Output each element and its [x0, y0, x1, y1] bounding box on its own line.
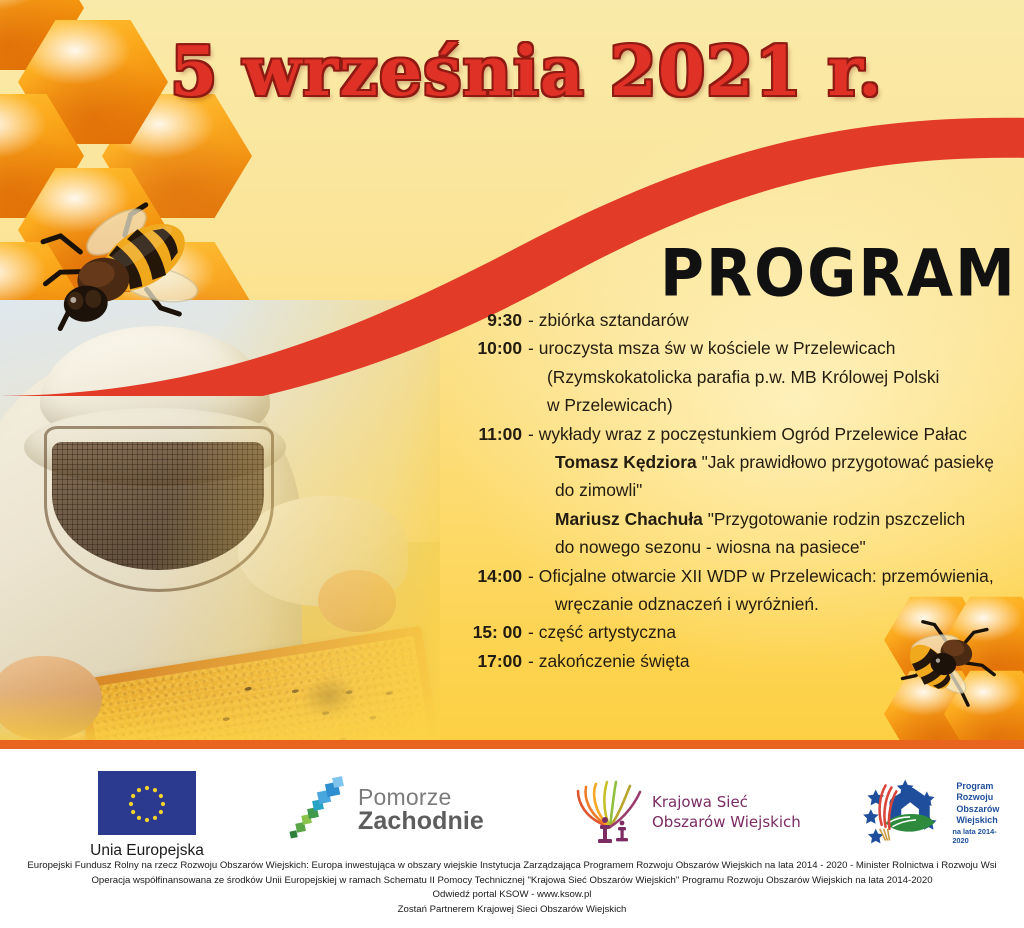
funding-line: Europejski Fundusz Rolny na rzecz Rozwoj… — [0, 859, 1024, 874]
logo-ksow: Krajowa Sieć Obszarów Wiejskich — [574, 775, 804, 849]
schedule-text: do zimowli" — [533, 482, 1008, 499]
poster-artwork-area: 5 września 2021 r. PROGRAM 9:30-zbiórka … — [0, 0, 1024, 748]
logo-label-prow-4: Wiejskich — [956, 815, 1012, 826]
logo-label-prow-2: Rozwoju — [956, 792, 1012, 803]
logo-prow: Program Rozwoju Obszarów Wiejskich na la… — [862, 777, 1012, 849]
schedule-row: 11:00- wykłady wraz z poczęstunkiem Ogró… — [448, 426, 1008, 443]
schedule-time: 11:00 — [448, 426, 522, 443]
logo-strip: Unia Europejska — [0, 757, 1024, 861]
logo-label-prow-1: Program — [956, 781, 1012, 792]
schedule-time: 17:00 — [448, 653, 522, 670]
logo-label-eu: Unia Europejska — [52, 842, 242, 860]
schedule-dash: - — [522, 624, 539, 641]
program-heading: PROGRAM — [660, 236, 1017, 312]
schedule-time: 9:30 — [448, 312, 522, 329]
schedule-row: do zimowli" — [448, 482, 1008, 499]
talk-title: "Przygotowanie rodzin pszczelich — [703, 509, 965, 529]
orange-divider — [0, 740, 1024, 749]
schedule-row: do nowego sezonu - wiosna na pasiece" — [448, 539, 1008, 556]
funding-disclaimer: Europejski Fundusz Rolny na rzecz Rozwoj… — [0, 859, 1024, 917]
schedule-time: 14:00 — [448, 568, 522, 585]
schedule-row: 14:00- Oficjalne otwarcie XII WDP w Prze… — [448, 568, 1008, 585]
ksow-fountain-icon — [574, 775, 646, 849]
prow-house-icon — [862, 777, 952, 849]
poster-root: 5 września 2021 r. PROGRAM 9:30-zbiórka … — [0, 0, 1024, 928]
schedule-row: (Rzymskokatolicka parafia p.w. MB Królow… — [448, 369, 1008, 386]
schedule-time: 10:00 — [448, 340, 522, 357]
schedule-dash: - — [522, 312, 539, 329]
logo-label-prow-3: Obszarów — [956, 804, 1012, 815]
schedule-text: Mariusz Chachuła "Przygotowanie rodzin p… — [533, 511, 1008, 528]
schedule-dash: - — [522, 568, 539, 585]
speaker-name: Tomasz Kędziora — [555, 452, 697, 472]
schedule-row: w Przelewicach) — [448, 397, 1008, 414]
schedule-text: (Rzymskokatolicka parafia p.w. MB Królow… — [533, 369, 1008, 386]
schedule-text: uroczysta msza św w kościele w Przelewic… — [539, 340, 1008, 357]
footer: Unia Europejska — [0, 749, 1024, 928]
logo-pomorze-zachodnie: Pomorze Zachodnie — [288, 775, 498, 845]
schedule-row: 10:00-uroczysta msza św w kościele w Prz… — [448, 340, 1008, 357]
schedule-dash: - — [522, 653, 539, 670]
logo-label-ksow-2: Obszarów Wiejskich — [652, 812, 801, 832]
schedule-row: Mariusz Chachuła "Przygotowanie rodzin p… — [448, 511, 1008, 528]
schedule-dash: - — [522, 340, 539, 357]
schedule-row: 9:30-zbiórka sztandarów — [448, 312, 1008, 329]
schedule-time: 15: 00 — [448, 624, 522, 641]
schedule-text: Oficjalne otwarcie XII WDP w Przelewicac… — [539, 568, 1008, 585]
logo-label-prow-sub: na lata 2014-2020 — [952, 827, 1012, 845]
pomorze-zachodnie-checkmark-icon — [288, 775, 352, 845]
schedule-row: Tomasz Kędziora "Jak prawidłowo przygoto… — [448, 454, 1008, 471]
funding-line: Zostań Partnerem Krajowej Sieci Obszarów… — [0, 903, 1024, 918]
funding-line: Operacja współfinansowana ze środków Uni… — [0, 874, 1024, 889]
logo-label-ksow-1: Krajowa Sieć — [652, 792, 801, 812]
schedule-text: w Przelewicach) — [533, 397, 1008, 414]
talk-title: "Jak prawidłowo przygotować pasiekę — [697, 452, 994, 472]
schedule-dash: - — [522, 426, 539, 443]
schedule-text: do nowego sezonu - wiosna na pasiece" — [533, 539, 1008, 556]
logo-label-pomorze: Pomorze — [358, 786, 484, 809]
speaker-name: Mariusz Chachuła — [555, 509, 703, 529]
logo-label-zachodnie: Zachodnie — [358, 809, 484, 834]
eu-flag-icon — [98, 771, 196, 835]
logo-unia-europejska: Unia Europejska — [52, 771, 242, 860]
page-title: 5 września 2021 r. — [170, 32, 870, 112]
funding-line: Odwiedź portal KSOW - www.ksow.pl — [0, 888, 1024, 903]
schedule-text: zbiórka sztandarów — [539, 312, 1008, 329]
schedule-text: Tomasz Kędziora "Jak prawidłowo przygoto… — [533, 454, 1008, 471]
schedule-text: wykłady wraz z poczęstunkiem Ogród Przel… — [539, 426, 1008, 443]
